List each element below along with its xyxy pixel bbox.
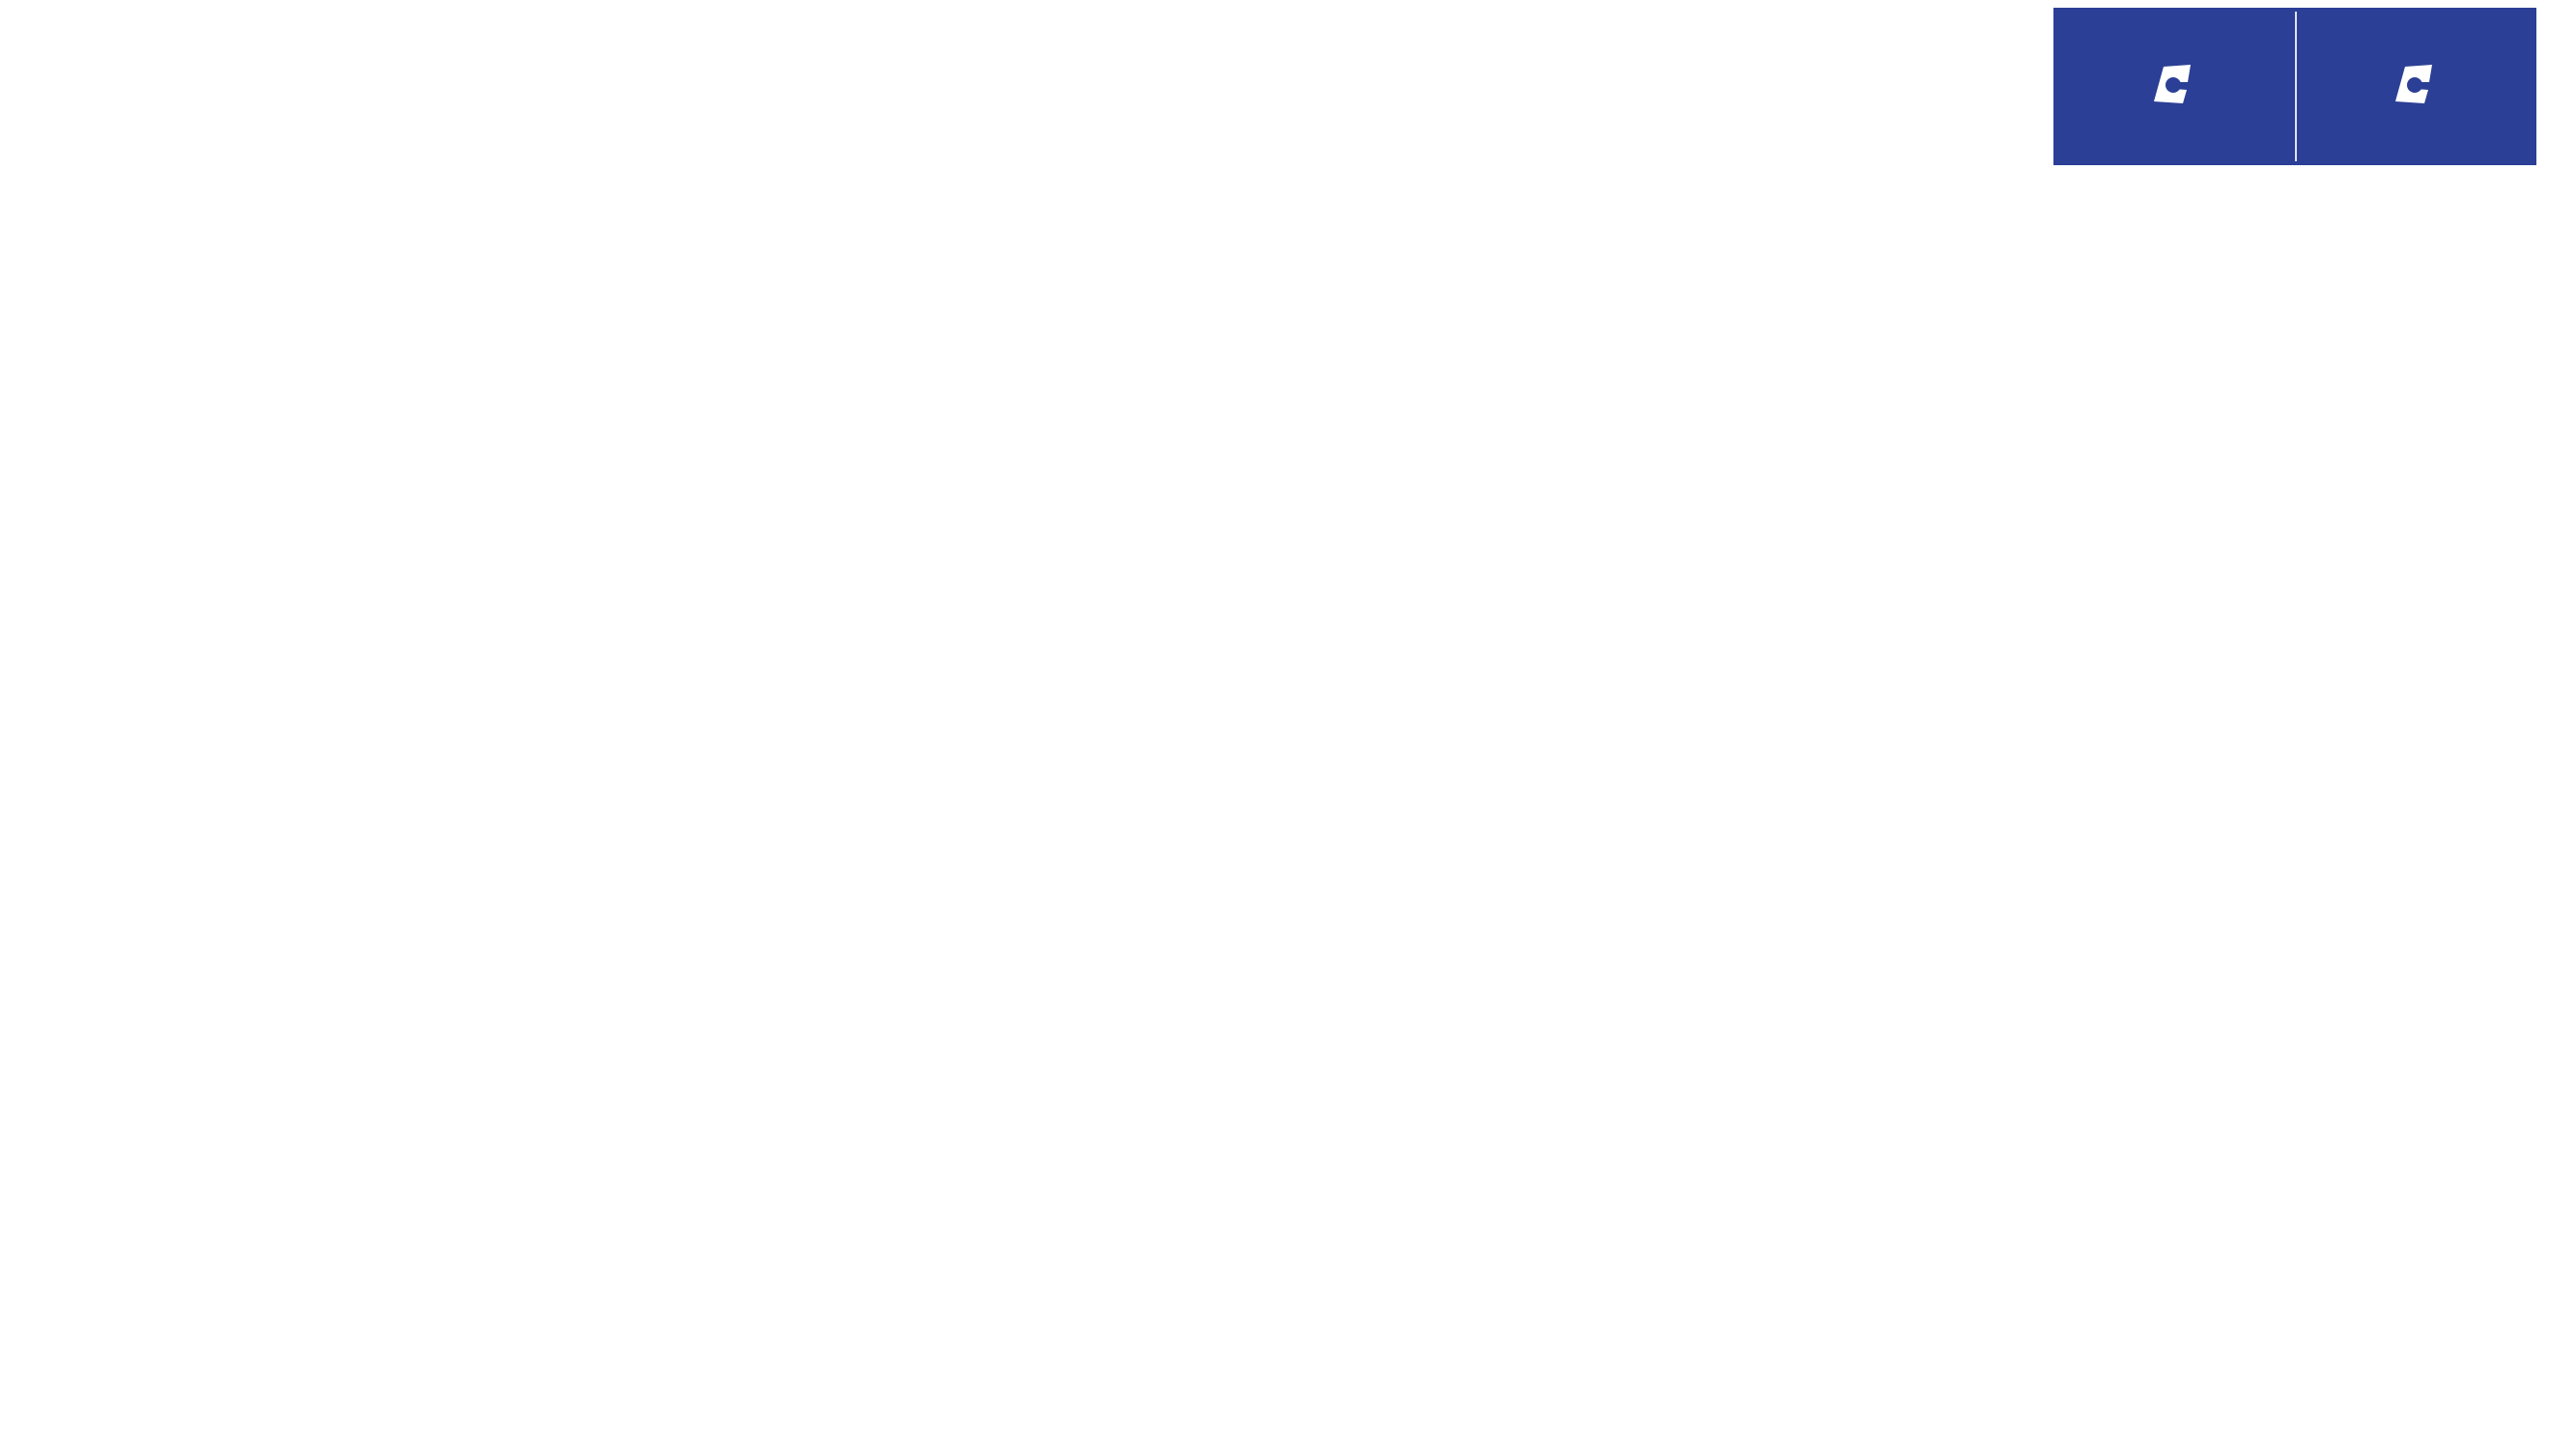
- logo-mark-right: [2395, 65, 2436, 105]
- logo-dvs-technology-group: [2053, 8, 2295, 165]
- logo-mark-left: [2154, 65, 2194, 105]
- logo-dvs-technology-china: [2295, 8, 2536, 165]
- cdvs-c-icon: [2395, 65, 2434, 105]
- cdvs-c-icon: [2154, 65, 2193, 105]
- brand-logo-block: [2053, 8, 2536, 165]
- process-flow-diagram: [93, 558, 2507, 752]
